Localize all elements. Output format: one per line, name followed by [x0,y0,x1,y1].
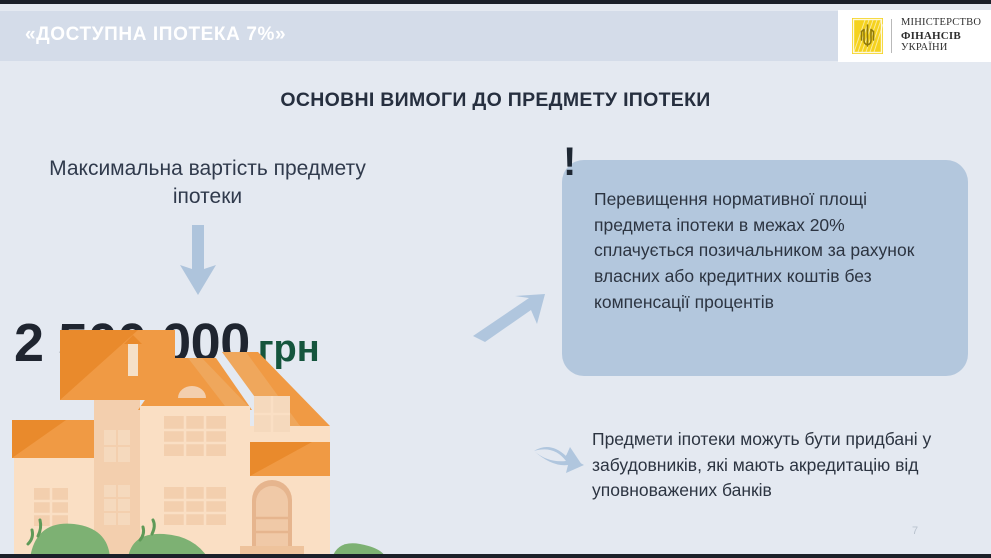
arrow-down-icon [176,225,220,302]
arrow-curved-right-icon [532,443,586,486]
logo-line-3: УКРАЇНИ [901,42,981,54]
arrow-up-right-icon [471,292,547,351]
note-text: Предмети іпотеки можуть бути придбані у … [592,427,952,504]
logo-divider [891,19,892,53]
logo-line-1: МІНІСТЕРСТВО [901,17,981,29]
callout-text: Перевищення нормативної площі предмета і… [594,187,942,316]
house-illustration [0,330,400,558]
ukraine-trident-emblem-icon [852,18,883,54]
header-title: «ДОСТУПНА ІПОТЕКА 7%» [25,24,286,46]
slide-canvas: «ДОСТУПНА ІПОТЕКА 7%» МІНІСТЕРСТВО ФІНАН… [0,0,991,558]
exclamation-marker: ! [563,142,576,182]
page-number: 7 [912,525,918,537]
ministry-logo-text: МІНІСТЕРСТВО ФІНАНСІВ УКРАЇНИ [901,17,981,55]
max-value-label: Максимальна вартість предмету іпотеки [30,155,385,210]
bottom-edge-strip [0,554,991,558]
top-edge-strip [0,0,991,4]
page-title: ОСНОВНІ ВИМОГИ ДО ПРЕДМЕТУ ІПОТЕКИ [0,89,991,112]
logo-line-2: ФІНАНСІВ [901,30,981,43]
ministry-logo: МІНІСТЕРСТВО ФІНАНСІВ УКРАЇНИ [838,10,991,62]
